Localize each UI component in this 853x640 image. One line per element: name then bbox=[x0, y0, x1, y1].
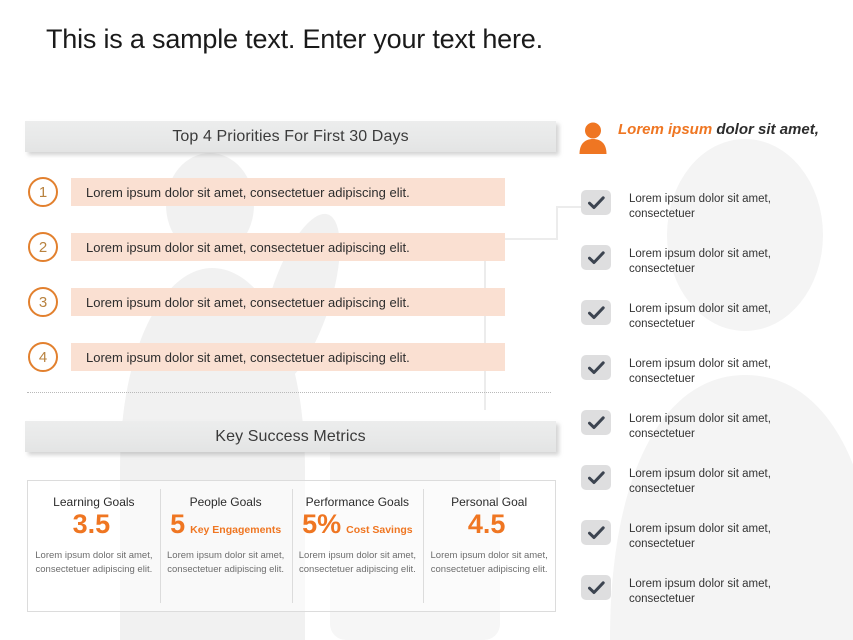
priority-number-badge: 2 bbox=[28, 232, 58, 262]
metric-value: 5 bbox=[170, 511, 185, 538]
right-panel-title-highlight: Lorem ipsum bbox=[618, 121, 716, 138]
checklist-item-label: Lorem ipsum dolor sit amet, consectetuer bbox=[629, 300, 811, 333]
priority-row[interactable]: 2 Lorem ipsum dolor sit amet, consectetu… bbox=[25, 232, 505, 263]
priority-number-badge: 3 bbox=[28, 287, 58, 317]
metric-description: Lorem ipsum dolor sit amet, consectetuer… bbox=[34, 549, 154, 577]
check-icon[interactable] bbox=[581, 465, 611, 490]
metric-value: 4.5 bbox=[468, 511, 506, 538]
metrics-card: Learning Goals 3.5 Lorem ipsum dolor sit… bbox=[27, 480, 556, 612]
check-icon[interactable] bbox=[581, 410, 611, 435]
metric-cell[interactable]: People Goals 5 Key Engagements Lorem ips… bbox=[160, 481, 292, 611]
checklist-item-label: Lorem ipsum dolor sit amet, consectetuer bbox=[629, 575, 811, 608]
check-icon[interactable] bbox=[581, 300, 611, 325]
checklist-item[interactable]: Lorem ipsum dolor sit amet, consectetuer bbox=[581, 575, 849, 630]
priority-text: Lorem ipsum dolor sit amet, consectetuer… bbox=[71, 288, 505, 316]
checklist-item-label: Lorem ipsum dolor sit amet, consectetuer bbox=[629, 465, 811, 498]
checklist: Lorem ipsum dolor sit amet, consectetuer… bbox=[581, 190, 849, 630]
metric-label: People Goals bbox=[166, 495, 286, 509]
section-divider bbox=[27, 392, 551, 393]
checklist-item-label: Lorem ipsum dolor sit amet, consectetuer bbox=[629, 355, 811, 388]
checklist-item[interactable]: Lorem ipsum dolor sit amet, consectetuer bbox=[581, 410, 849, 465]
check-icon[interactable] bbox=[581, 190, 611, 215]
priorities-header-label: Top 4 Priorities For First 30 Days bbox=[172, 128, 408, 146]
metric-description: Lorem ipsum dolor sit amet, consectetuer… bbox=[166, 549, 286, 577]
checklist-item-label: Lorem ipsum dolor sit amet, consectetuer bbox=[629, 410, 811, 443]
metrics-section-header: Key Success Metrics bbox=[25, 421, 556, 452]
checklist-item-label: Lorem ipsum dolor sit amet, consectetuer bbox=[629, 520, 811, 553]
metric-unit: Key Engagements bbox=[190, 524, 281, 536]
connector-vertical-branch bbox=[556, 206, 558, 240]
metric-value: 5% bbox=[302, 511, 341, 538]
metric-value: 3.5 bbox=[73, 511, 111, 538]
right-panel-title-rest: dolor sit amet, bbox=[716, 121, 819, 138]
metric-value-row: 5% Cost Savings bbox=[298, 511, 418, 545]
metric-label: Performance Goals bbox=[298, 495, 418, 509]
checklist-item[interactable]: Lorem ipsum dolor sit amet, consectetuer bbox=[581, 245, 849, 300]
metric-label: Learning Goals bbox=[34, 495, 154, 509]
priority-text: Lorem ipsum dolor sit amet, consectetuer… bbox=[71, 343, 505, 371]
checklist-item-label: Lorem ipsum dolor sit amet, consectetuer bbox=[629, 245, 811, 278]
check-icon[interactable] bbox=[581, 575, 611, 600]
metric-value-row: 5 Key Engagements bbox=[166, 511, 286, 545]
metric-unit: Cost Savings bbox=[346, 524, 413, 536]
metric-description: Lorem ipsum dolor sit amet, consectetuer… bbox=[429, 549, 549, 577]
right-panel-title: Lorem ipsum dolor sit amet, bbox=[618, 120, 819, 140]
priority-number-badge: 4 bbox=[28, 342, 58, 372]
connector-vertical-main bbox=[484, 240, 486, 410]
checklist-item[interactable]: Lorem ipsum dolor sit amet, consectetuer bbox=[581, 300, 849, 355]
priority-text: Lorem ipsum dolor sit amet, consectetuer… bbox=[71, 233, 505, 261]
check-icon[interactable] bbox=[581, 520, 611, 545]
right-panel-heading: Lorem ipsum dolor sit amet, bbox=[578, 120, 846, 155]
priority-row[interactable]: 3 Lorem ipsum dolor sit amet, consectetu… bbox=[25, 287, 505, 318]
metrics-header-label: Key Success Metrics bbox=[215, 428, 365, 446]
priority-text: Lorem ipsum dolor sit amet, consectetuer… bbox=[71, 178, 505, 206]
metric-cell[interactable]: Learning Goals 3.5 Lorem ipsum dolor sit… bbox=[28, 481, 160, 611]
checklist-item-label: Lorem ipsum dolor sit amet, consectetuer bbox=[629, 190, 811, 223]
priorities-section-header: Top 4 Priorities For First 30 Days bbox=[25, 121, 556, 152]
page-title: This is a sample text. Enter your text h… bbox=[46, 24, 543, 55]
metric-cell[interactable]: Personal Goal 4.5 Lorem ipsum dolor sit … bbox=[423, 481, 555, 611]
priority-row[interactable]: 4 Lorem ipsum dolor sit amet, consectetu… bbox=[25, 342, 505, 373]
check-icon[interactable] bbox=[581, 245, 611, 270]
check-icon[interactable] bbox=[581, 355, 611, 380]
checklist-item[interactable]: Lorem ipsum dolor sit amet, consectetuer bbox=[581, 520, 849, 575]
checklist-item[interactable]: Lorem ipsum dolor sit amet, consectetuer bbox=[581, 355, 849, 410]
person-icon bbox=[578, 121, 608, 155]
priority-number-badge: 1 bbox=[28, 177, 58, 207]
metric-description: Lorem ipsum dolor sit amet, consectetuer… bbox=[298, 549, 418, 577]
metric-value-row: 3.5 bbox=[34, 511, 154, 545]
priority-row[interactable]: 1 Lorem ipsum dolor sit amet, consectetu… bbox=[25, 177, 505, 208]
checklist-item[interactable]: Lorem ipsum dolor sit amet, consectetuer bbox=[581, 465, 849, 520]
metric-label: Personal Goal bbox=[429, 495, 549, 509]
metric-cell[interactable]: Performance Goals 5% Cost Savings Lorem … bbox=[292, 481, 424, 611]
checklist-item[interactable]: Lorem ipsum dolor sit amet, consectetuer bbox=[581, 190, 849, 245]
metric-value-row: 4.5 bbox=[429, 511, 549, 545]
